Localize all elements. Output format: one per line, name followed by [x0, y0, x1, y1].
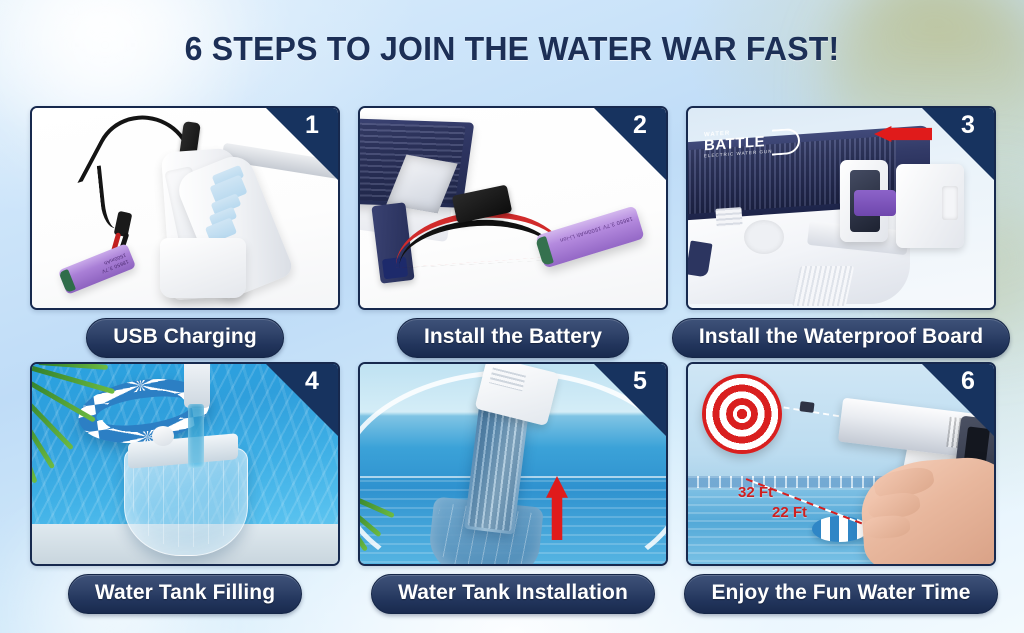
filling-spout-4: [184, 364, 210, 408]
step-caption-wrap-6: Enjoy the Fun Water Time: [686, 574, 996, 614]
step-caption-wrap-3: Install the Waterproof Board: [686, 318, 996, 358]
step-card-3: WATER BATTLE ELECTRIC WATER GUN: [686, 106, 996, 354]
step-card-5: 5 Water Tank Installation: [358, 362, 668, 612]
gun-trigger-guard-3: [744, 220, 784, 254]
waterproof-board-3: [896, 164, 964, 248]
distance-label-far: 32 Ft: [738, 484, 773, 501]
brand-logo-3: WATER BATTLE ELECTRIC WATER GUN: [704, 128, 773, 159]
step-number-2: 2: [625, 111, 655, 140]
step-photo-4: 4: [30, 362, 340, 566]
step-number-3: 3: [953, 111, 983, 140]
page-title: 6 STEPS TO JOIN THE WATER WAR FAST!: [15, 30, 1008, 68]
step-photo-6: 32 Ft 22 Ft 6: [686, 362, 996, 566]
step-photo-3: WATER BATTLE ELECTRIC WATER GUN: [686, 106, 996, 310]
step-number-6: 6: [953, 367, 983, 396]
steps-grid: 18650 3.7V 1500mAh 1 USB Charging: [30, 106, 996, 612]
water-tank-nozzle-4: [152, 426, 174, 446]
step-number-1: 1: [297, 111, 327, 140]
infographic-root: 6 STEPS TO JOIN THE WATER WAR FAST!: [0, 0, 1024, 633]
step-caption-wrap-2: Install the Battery: [358, 318, 668, 358]
step-caption-wrap-1: USB Charging: [30, 318, 340, 358]
gun-vents-3: [715, 207, 742, 227]
step-caption-wrap-4: Water Tank Filling: [30, 574, 340, 614]
step-caption-1: USB Charging: [86, 318, 284, 358]
purple-connector-3: [854, 190, 896, 216]
step-caption-3: Install the Waterproof Board: [672, 318, 1010, 358]
palm-leaves-4: [30, 362, 122, 506]
pool-float-6: [812, 516, 868, 542]
step-number-4: 4: [297, 367, 327, 396]
charger-base: [160, 238, 246, 298]
step-card-2: 18650 3.7V 1500mAh Li-ion 2 Install the …: [358, 106, 668, 354]
water-stream-4: [188, 404, 204, 468]
step-number-5: 5: [625, 367, 655, 396]
gun-grip-3: [792, 266, 855, 306]
step-card-6: 32 Ft 22 Ft 6 Enjoy t: [686, 362, 996, 612]
step-card-1: 18650 3.7V 1500mAh 1 USB Charging: [30, 106, 340, 354]
water-tank-ribs-4: [133, 457, 239, 547]
gun-grip-lines-5: [489, 367, 526, 391]
step-photo-1: 18650 3.7V 1500mAh 1: [30, 106, 340, 310]
step-caption-5: Water Tank Installation: [371, 574, 655, 614]
step-caption-wrap-5: Water Tank Installation: [358, 574, 668, 614]
waterproof-board-notch-3: [942, 186, 958, 220]
gun-front-sight-6: [799, 401, 814, 413]
bullseye-target-icon: [702, 374, 782, 454]
step-caption-4: Water Tank Filling: [68, 574, 302, 614]
step-caption-2: Install the Battery: [397, 318, 629, 358]
step-photo-2: 18650 3.7V 1500mAh Li-ion 2: [358, 106, 668, 310]
distance-label-near: 22 Ft: [772, 504, 807, 521]
step-card-4: 4 Water Tank Filling: [30, 362, 340, 612]
step-caption-6: Enjoy the Fun Water Time: [684, 574, 997, 614]
palm-leaves-5: [358, 488, 402, 546]
step-photo-5: 5: [358, 362, 668, 566]
